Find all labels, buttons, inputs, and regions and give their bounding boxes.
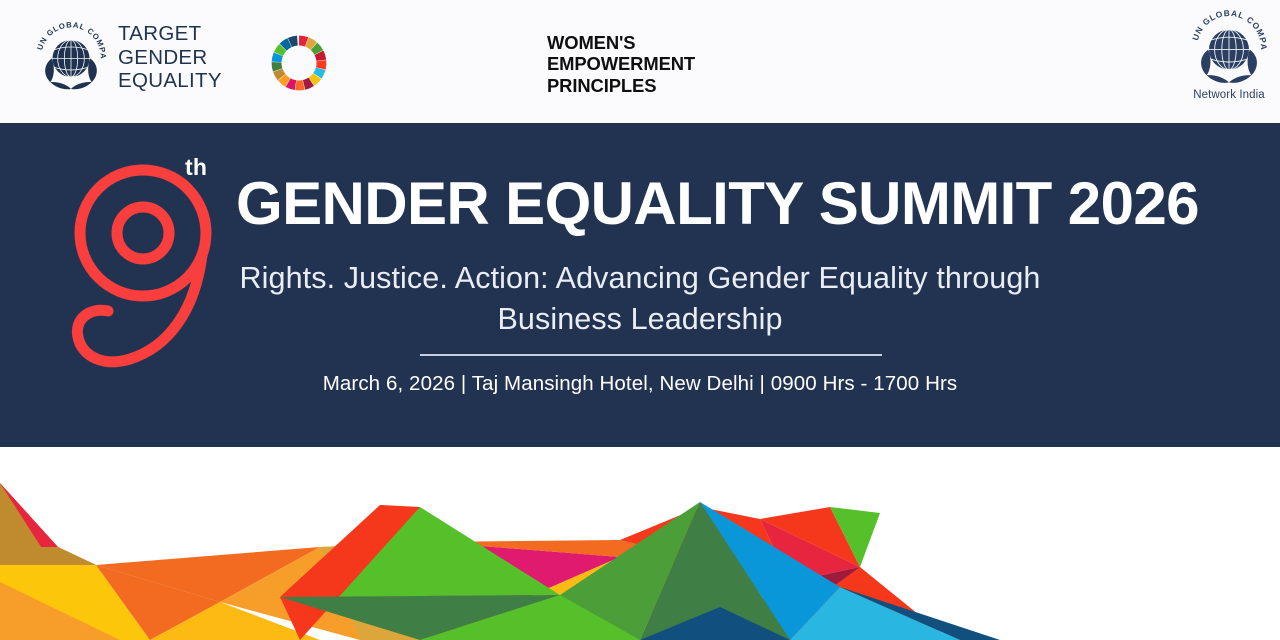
hero-band: th GENDER EQUALITY SUMMIT 2026 Rights. J…: [0, 123, 1280, 447]
event-banner: UN GLOBAL COMPACT: [0, 0, 1280, 640]
event-title: GENDER EQUALITY SUMMIT 2026: [236, 171, 1156, 237]
partner-logo-header: UN GLOBAL COMPACT: [0, 0, 1280, 123]
sdg-colour-wheel-icon: [266, 30, 332, 96]
event-theme: Rights. Justice. Action: Advancing Gende…: [190, 258, 1090, 340]
low-poly-mountain-graphic-overlay: [0, 447, 1000, 640]
network-india-label: Network India: [1183, 89, 1275, 101]
target-gender-equality-logo: UN GLOBAL COMPACT: [34, 14, 334, 102]
edition-ordinal-suffix: th: [185, 154, 207, 181]
un-global-compact-emblem-icon: UN GLOBAL COMPACT: [1189, 8, 1269, 88]
womens-empowerment-principles-logo: WOMEN'S EMPOWERMENT PRINCIPLES: [547, 25, 733, 103]
wep-wordmark: WOMEN'S EMPOWERMENT PRINCIPLES: [547, 32, 695, 97]
un-global-compact-emblem-icon: UN GLOBAL COMPACT: [34, 20, 108, 94]
target-gender-equality-wordmark: TARGET GENDER EQUALITY: [118, 22, 258, 93]
theme-divider: [420, 354, 882, 356]
event-details: March 6, 2026 | Taj Mansingh Hotel, New …: [190, 372, 1090, 396]
ungc-network-india-logo: UN GLOBAL COMPACT Netwo: [1183, 8, 1275, 118]
footer-area: #RightsJusticeAction: [0, 447, 1280, 640]
